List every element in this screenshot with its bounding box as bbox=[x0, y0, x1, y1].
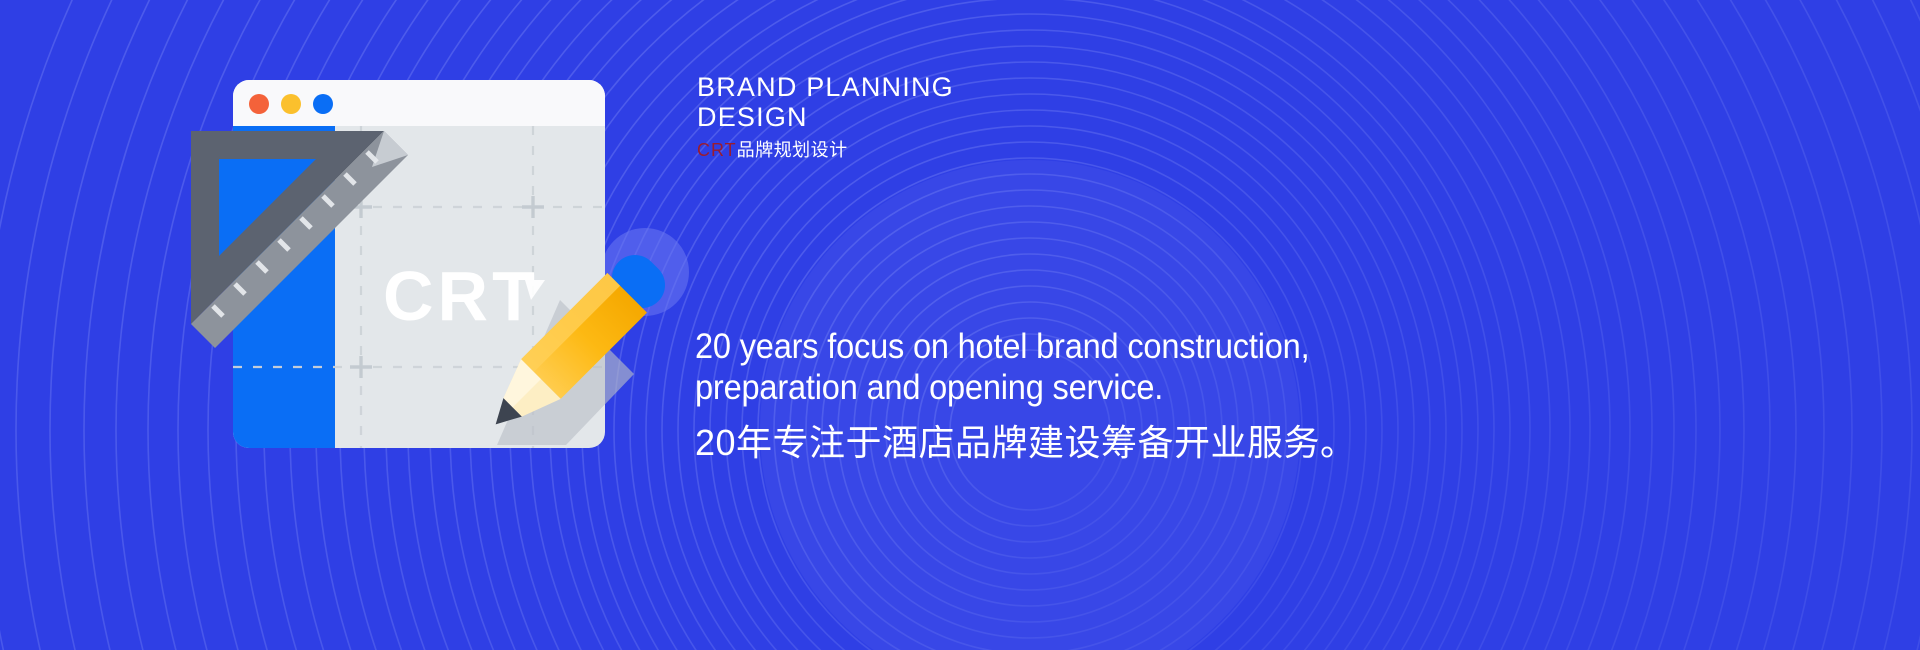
tagline-block: 20 years focus on hotel brand constructi… bbox=[695, 326, 1755, 465]
minimize-dot bbox=[281, 94, 301, 114]
tagline-english: 20 years focus on hotel brand constructi… bbox=[695, 326, 1681, 408]
svg-text:CRT: CRT bbox=[383, 257, 539, 335]
eyebrow-block: BRAND PLANNING DESIGN CRT品牌规划设计 bbox=[697, 72, 1417, 161]
brand-banner: CRT bbox=[0, 0, 1920, 650]
eyebrow-title: BRAND PLANNING DESIGN bbox=[697, 72, 1417, 132]
tagline-chinese: 20年专注于酒店品牌建设筹备开业服务。 bbox=[695, 421, 1755, 465]
eyebrow-subtitle-cn: 品牌规划设计 bbox=[737, 140, 848, 160]
eyebrow-subtitle: CRT品牌规划设计 bbox=[697, 139, 1417, 161]
maximize-dot bbox=[313, 94, 333, 114]
window-control-dots bbox=[249, 94, 333, 114]
crt-canvas-logo: CRT bbox=[383, 257, 545, 335]
close-dot bbox=[249, 94, 269, 114]
brand-name-crt: CRT bbox=[697, 140, 737, 160]
